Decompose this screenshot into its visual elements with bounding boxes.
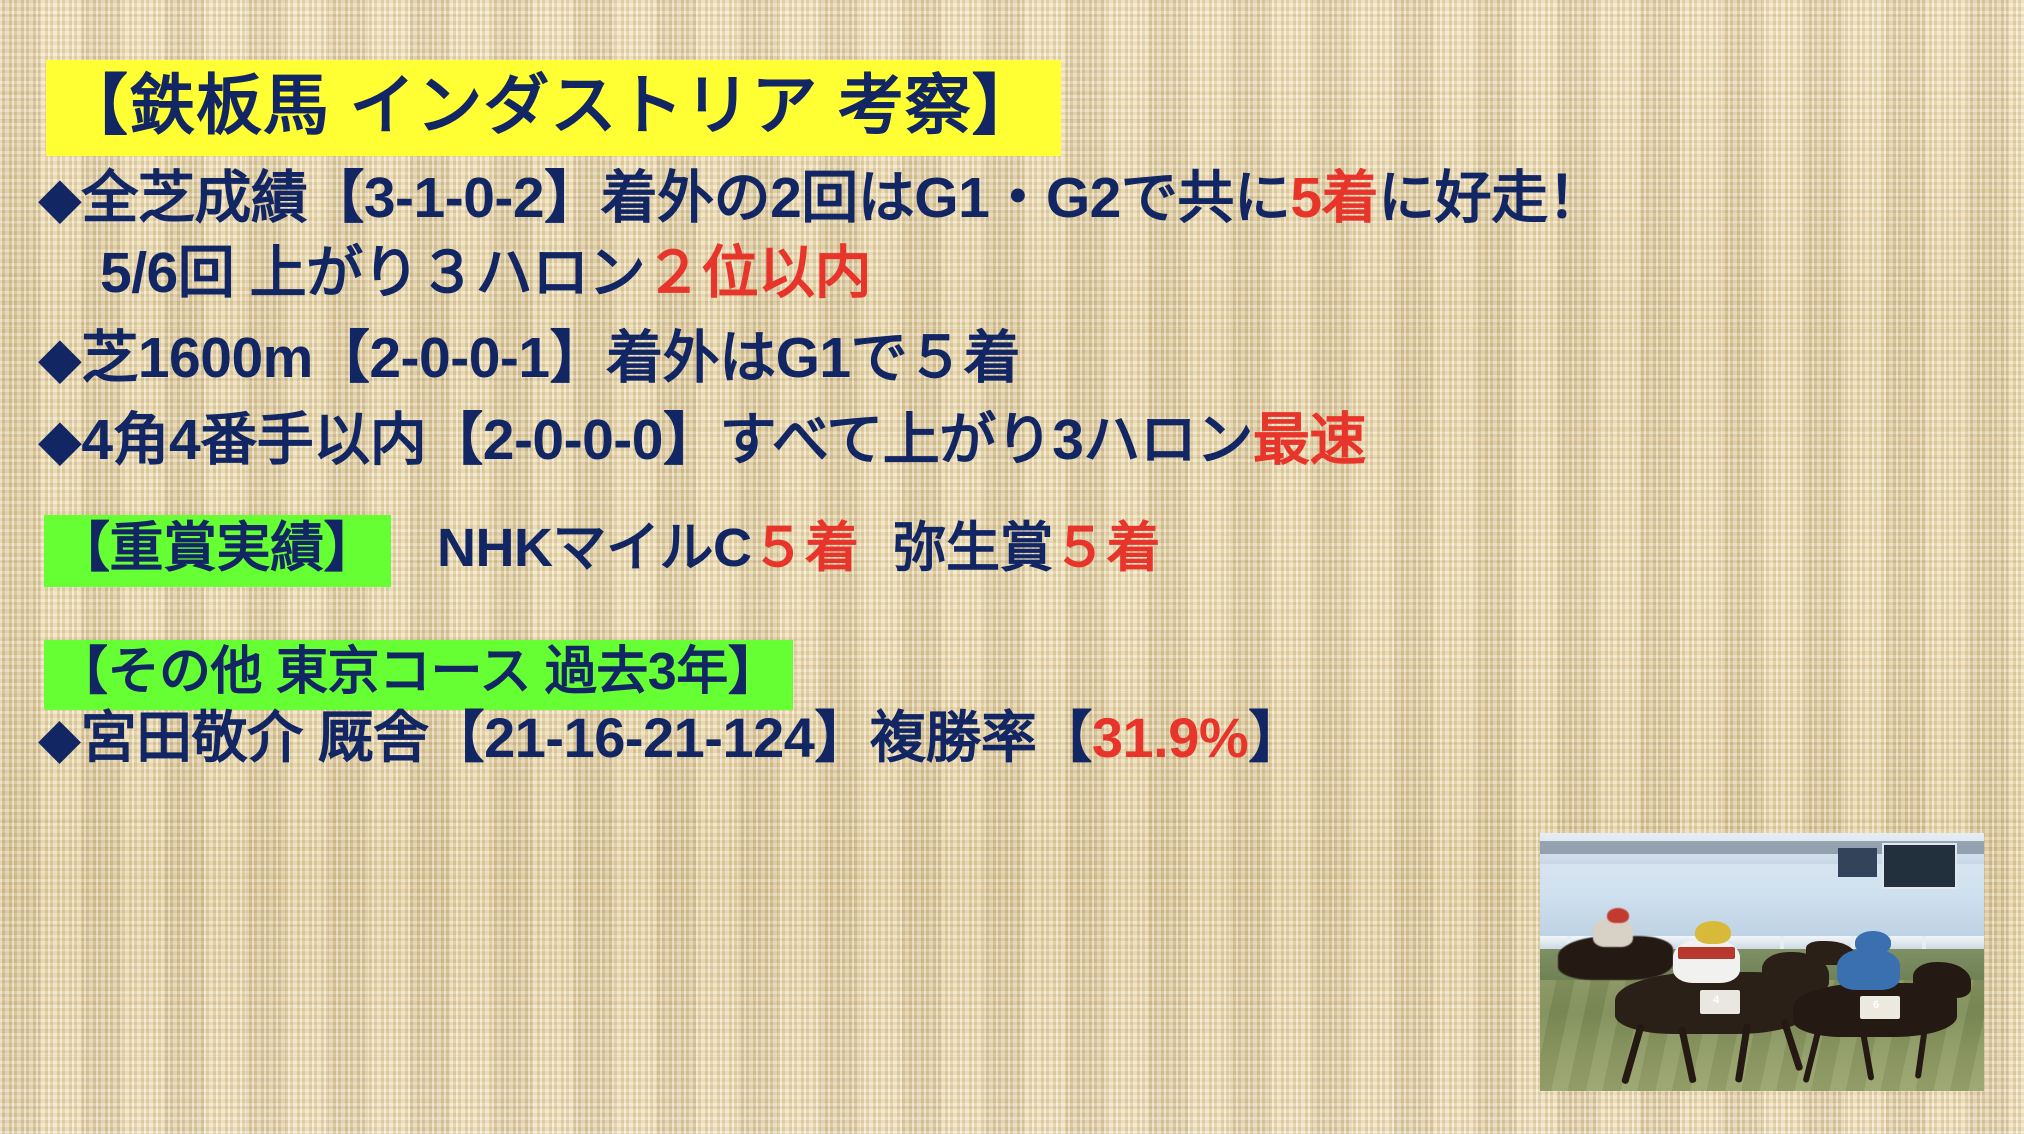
photo-helmet-chaser	[1855, 931, 1891, 954]
saddle-number: 4	[1713, 994, 1719, 1006]
turf-record-text-b: に好走！	[1378, 166, 1604, 230]
race2-place: ５着	[1053, 518, 1160, 578]
slide-content: 【鉄板馬 インダストリア 考察】 ◆全芝成績【3-1-0-2】着外の2回はG1・…	[0, 0, 2024, 1134]
photo-horse-chaser-neck	[1913, 962, 1971, 998]
saddle-number: 6	[1873, 999, 1879, 1011]
other-section-header: 【その他 東京コース 過去3年】	[44, 640, 793, 710]
turf-record-highlight: 5着	[1290, 166, 1378, 230]
trainer-stats-text: 宮田敬介 厩舎【21-16-21-124】複勝率【	[81, 706, 1092, 769]
corner-record-line: ◆4角4番手以内【2-0-0-0】すべて上がり3ハロン最速	[38, 412, 1366, 469]
photo-helmet-background	[1607, 908, 1629, 923]
turf-record-line: ◆全芝成績【3-1-0-2】着外の2回はG1・G2で共に5着に好走！	[38, 170, 1604, 227]
bullet-diamond-icon: ◆	[38, 706, 81, 769]
bullet-diamond-icon: ◆	[38, 408, 81, 472]
agari-line: 5/6回 上がり３ハロン２位以内	[100, 245, 871, 302]
agari-text: 5/6回 上がり３ハロン	[100, 241, 645, 305]
bullet-diamond-icon: ◆	[38, 166, 81, 230]
trainer-stats-text-end: 】	[1248, 706, 1304, 769]
corner-record-highlight: 最速	[1253, 408, 1366, 472]
trainer-place-rate: 31.9%	[1092, 706, 1248, 769]
photo-scoreboard	[1882, 843, 1957, 888]
corner-record-text: 4角4番手以内【2-0-0-0】すべて上がり3ハロン	[81, 408, 1253, 472]
mile-record-line: ◆芝1600m【2-0-0-1】着外はG1で５着	[38, 330, 1020, 387]
photo-helmet-lead	[1695, 921, 1731, 944]
graded-results-tag: 【重賞実績】	[44, 515, 391, 587]
race2-name: 弥生賞	[893, 518, 1054, 578]
photo-jockey-silks-chaser	[1837, 949, 1899, 990]
photo-scoreboard-secondary	[1838, 848, 1878, 876]
race1-name: NHKマイルC	[437, 518, 752, 578]
photo-saddlecloth-lead	[1700, 990, 1740, 1013]
photo-jockey-silks-lead	[1673, 939, 1740, 983]
race1-place: ５着	[752, 518, 859, 578]
agari-highlight: ２位以内	[645, 241, 871, 305]
photo-saddlecloth-chaser	[1860, 996, 1900, 1019]
photo-jockey-silks-stripe	[1678, 947, 1736, 960]
trainer-stats-line: ◆宮田敬介 厩舎【21-16-21-124】複勝率【31.9%】	[38, 710, 1304, 766]
mile-record-text: 芝1600m【2-0-0-1】着外はG1で５着	[81, 326, 1020, 390]
graded-results-line: 【重賞実績】NHKマイルC５着弥生賞５着	[44, 515, 1160, 587]
turf-record-text-a: 全芝成績【3-1-0-2】着外の2回はG1・G2で共に	[81, 166, 1290, 230]
horse-race-photo: 4 6	[1540, 833, 1984, 1091]
other-section-tag: 【その他 東京コース 過去3年】	[44, 640, 793, 710]
page-title: 【鉄板馬 インダストリア 考察】	[46, 60, 1061, 156]
bullet-diamond-icon: ◆	[38, 326, 81, 390]
